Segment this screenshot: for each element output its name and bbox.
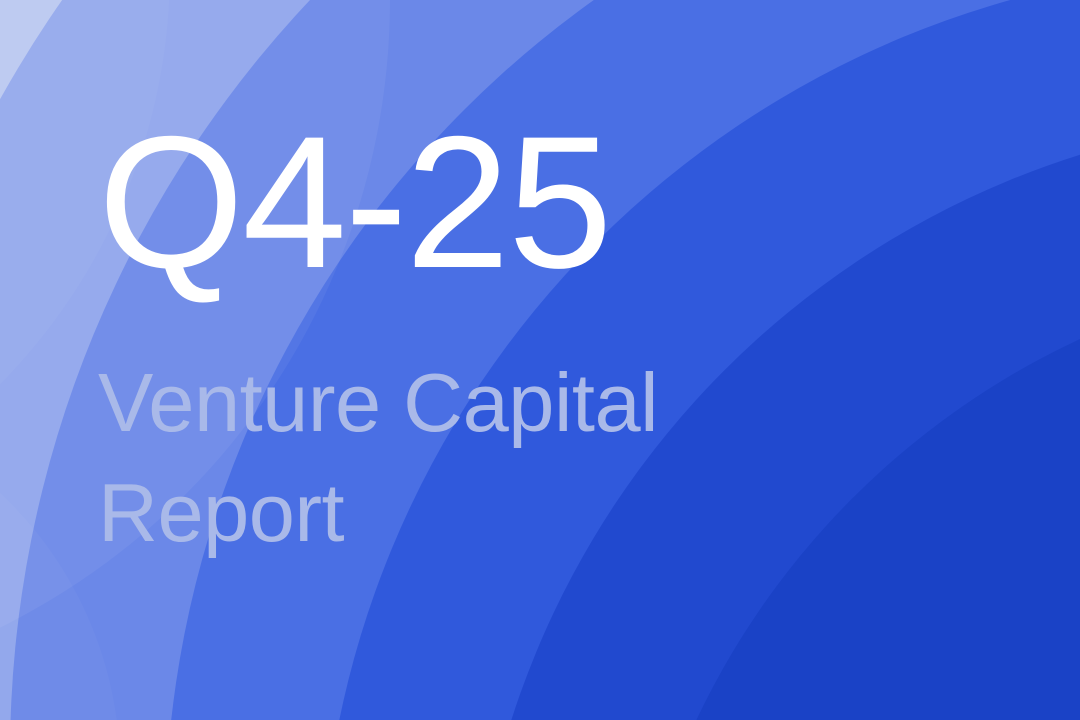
cover-subtitle: Venture Capital Report: [98, 296, 888, 567]
report-cover-card: Q4-25 Venture Capital Report: [0, 0, 1080, 720]
cover-text-block: Q4-25 Venture Capital Report: [98, 108, 888, 567]
cover-title: Q4-25: [98, 108, 888, 296]
